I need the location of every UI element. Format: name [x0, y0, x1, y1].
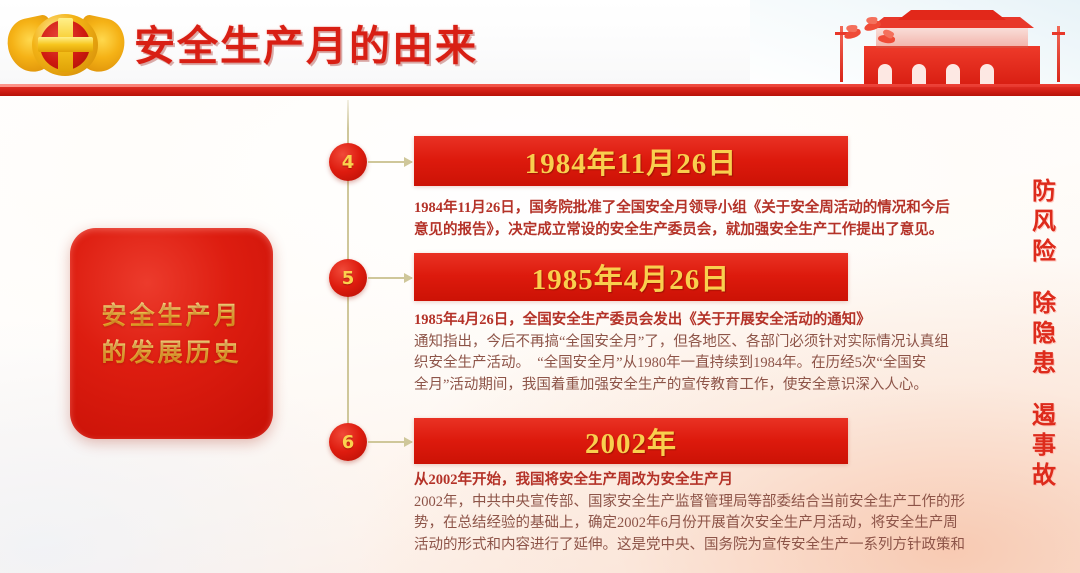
slogan-char: 风	[1032, 206, 1056, 236]
section-title-line-2: 的发展历史	[101, 334, 241, 371]
timeline-node-6[interactable]: 6	[329, 423, 367, 461]
slogan-group-3: 遏 事 故	[1032, 400, 1056, 490]
timeline-banner-5[interactable]: 1985年4月26日	[414, 253, 848, 301]
timeline-body-line: 织安全生产活动。 “全国安全月”从1980年一直持续到1984年。在历经5次“全…	[414, 353, 1030, 375]
slogan-group-2: 除 隐 患	[1032, 288, 1056, 378]
timeline-node-5[interactable]: 5	[329, 259, 367, 297]
timeline-connector-6	[368, 441, 412, 443]
page-title: 安全生产月的由来	[134, 12, 478, 72]
timeline-banner-label-6: 2002年	[585, 420, 677, 462]
timeline-connector-5	[368, 277, 412, 279]
slogan-char: 险	[1032, 236, 1056, 266]
timeline-body-line: 势，在总结经验的基础上，确定2002年6月份开展首次安全生产月活动，将安全生产周	[414, 513, 1030, 535]
timeline-body-5: 1985年4月26日，全国安全生产委员会发出《关于开展安全活动的通知》 通知指出…	[414, 310, 1030, 396]
header-red-bar-highlight	[0, 84, 1080, 87]
timeline-banner-label-5: 1985年4月26日	[532, 256, 731, 298]
dove-icon	[843, 28, 862, 41]
slogan-char: 除	[1032, 288, 1056, 318]
slide-header: 安全生产月的由来	[0, 0, 1080, 96]
timeline-node-4[interactable]: 4	[329, 143, 367, 181]
timeline-body-4: 1984年11月26日，国务院批准了全国安全月领导小组《关于安全周活动的情况和今…	[414, 198, 1030, 241]
section-title-card: 安全生产月 的发展历史	[70, 228, 273, 439]
slogan-group-1: 防 风 险	[1032, 176, 1056, 266]
timeline-body-6: 从2002年开始，我国将安全生产周改为安全生产月 2002年，中共中央宣传部、国…	[414, 470, 1030, 556]
tiananmen-arch-icon	[946, 64, 960, 86]
timeline-body-line: 2002年，中共中央宣传部、国家安全生产监督管理局等部委结合当前安全生产工作的形	[414, 492, 1030, 514]
timeline-banner-4[interactable]: 1984年11月26日	[414, 136, 848, 186]
emblem-cross-horizontal-icon	[38, 37, 93, 52]
slide-root: 安全生产月的由来 安全生产月 的发展历史 4	[0, 0, 1080, 573]
slogan-char: 患	[1032, 348, 1056, 378]
vertical-slogan: 防 风 险 除 隐 患 遏 事 故	[1024, 176, 1064, 490]
timeline-body-line: 从2002年开始，我国将安全生产周改为安全生产月	[414, 470, 1030, 492]
tiananmen-lamp-post-right-icon	[1057, 26, 1060, 82]
slogan-char: 事	[1032, 430, 1056, 460]
dove-icon	[863, 20, 882, 33]
slogan-char: 遏	[1032, 400, 1056, 430]
tiananmen-arch-icon	[878, 64, 892, 86]
dove-icon	[878, 34, 896, 44]
timeline-body-line: 意见的报告》，决定成立常设的安全生产委员会，就加强安全生产工作提出了意见。	[414, 220, 1030, 242]
timeline-body-line: 通知指出，今后不再搞“全国安全月”了，但各地区、各部门必须针对实际情况认真组	[414, 332, 1030, 354]
tiananmen-upper-roof-icon	[898, 10, 1006, 20]
safety-cross-wings-emblem-icon	[6, 6, 126, 84]
timeline-body-line: 1985年4月26日，全国安全生产委员会发出《关于开展安全活动的通知》	[414, 310, 1030, 332]
tiananmen-arch-icon	[912, 64, 926, 86]
slogan-char: 隐	[1032, 318, 1056, 348]
timeline-banner-label-4: 1984年11月26日	[525, 140, 737, 182]
section-title-line-1: 安全生产月	[101, 297, 241, 334]
slogan-char: 故	[1032, 460, 1056, 490]
timeline-connector-4	[368, 161, 412, 163]
timeline-body-line: 全月”活动期间，我国着重加强安全生产的宣传教育工作，使安全意识深入人心。	[414, 375, 1030, 397]
timeline-banner-6[interactable]: 2002年	[414, 418, 848, 464]
timeline-body-line: 1984年11月26日，国务院批准了全国安全月领导小组《关于安全周活动的情况和今…	[414, 198, 1030, 220]
tiananmen-arch-icon	[980, 64, 994, 86]
doves-icon	[844, 22, 904, 54]
slogan-char: 防	[1032, 176, 1056, 206]
timeline-body-line: 活动的形式和内容进行了延伸。这是党中央、国务院为宣传安全生产一系列方针政策和	[414, 535, 1030, 557]
tiananmen-lamp-post-left-icon	[840, 26, 843, 82]
